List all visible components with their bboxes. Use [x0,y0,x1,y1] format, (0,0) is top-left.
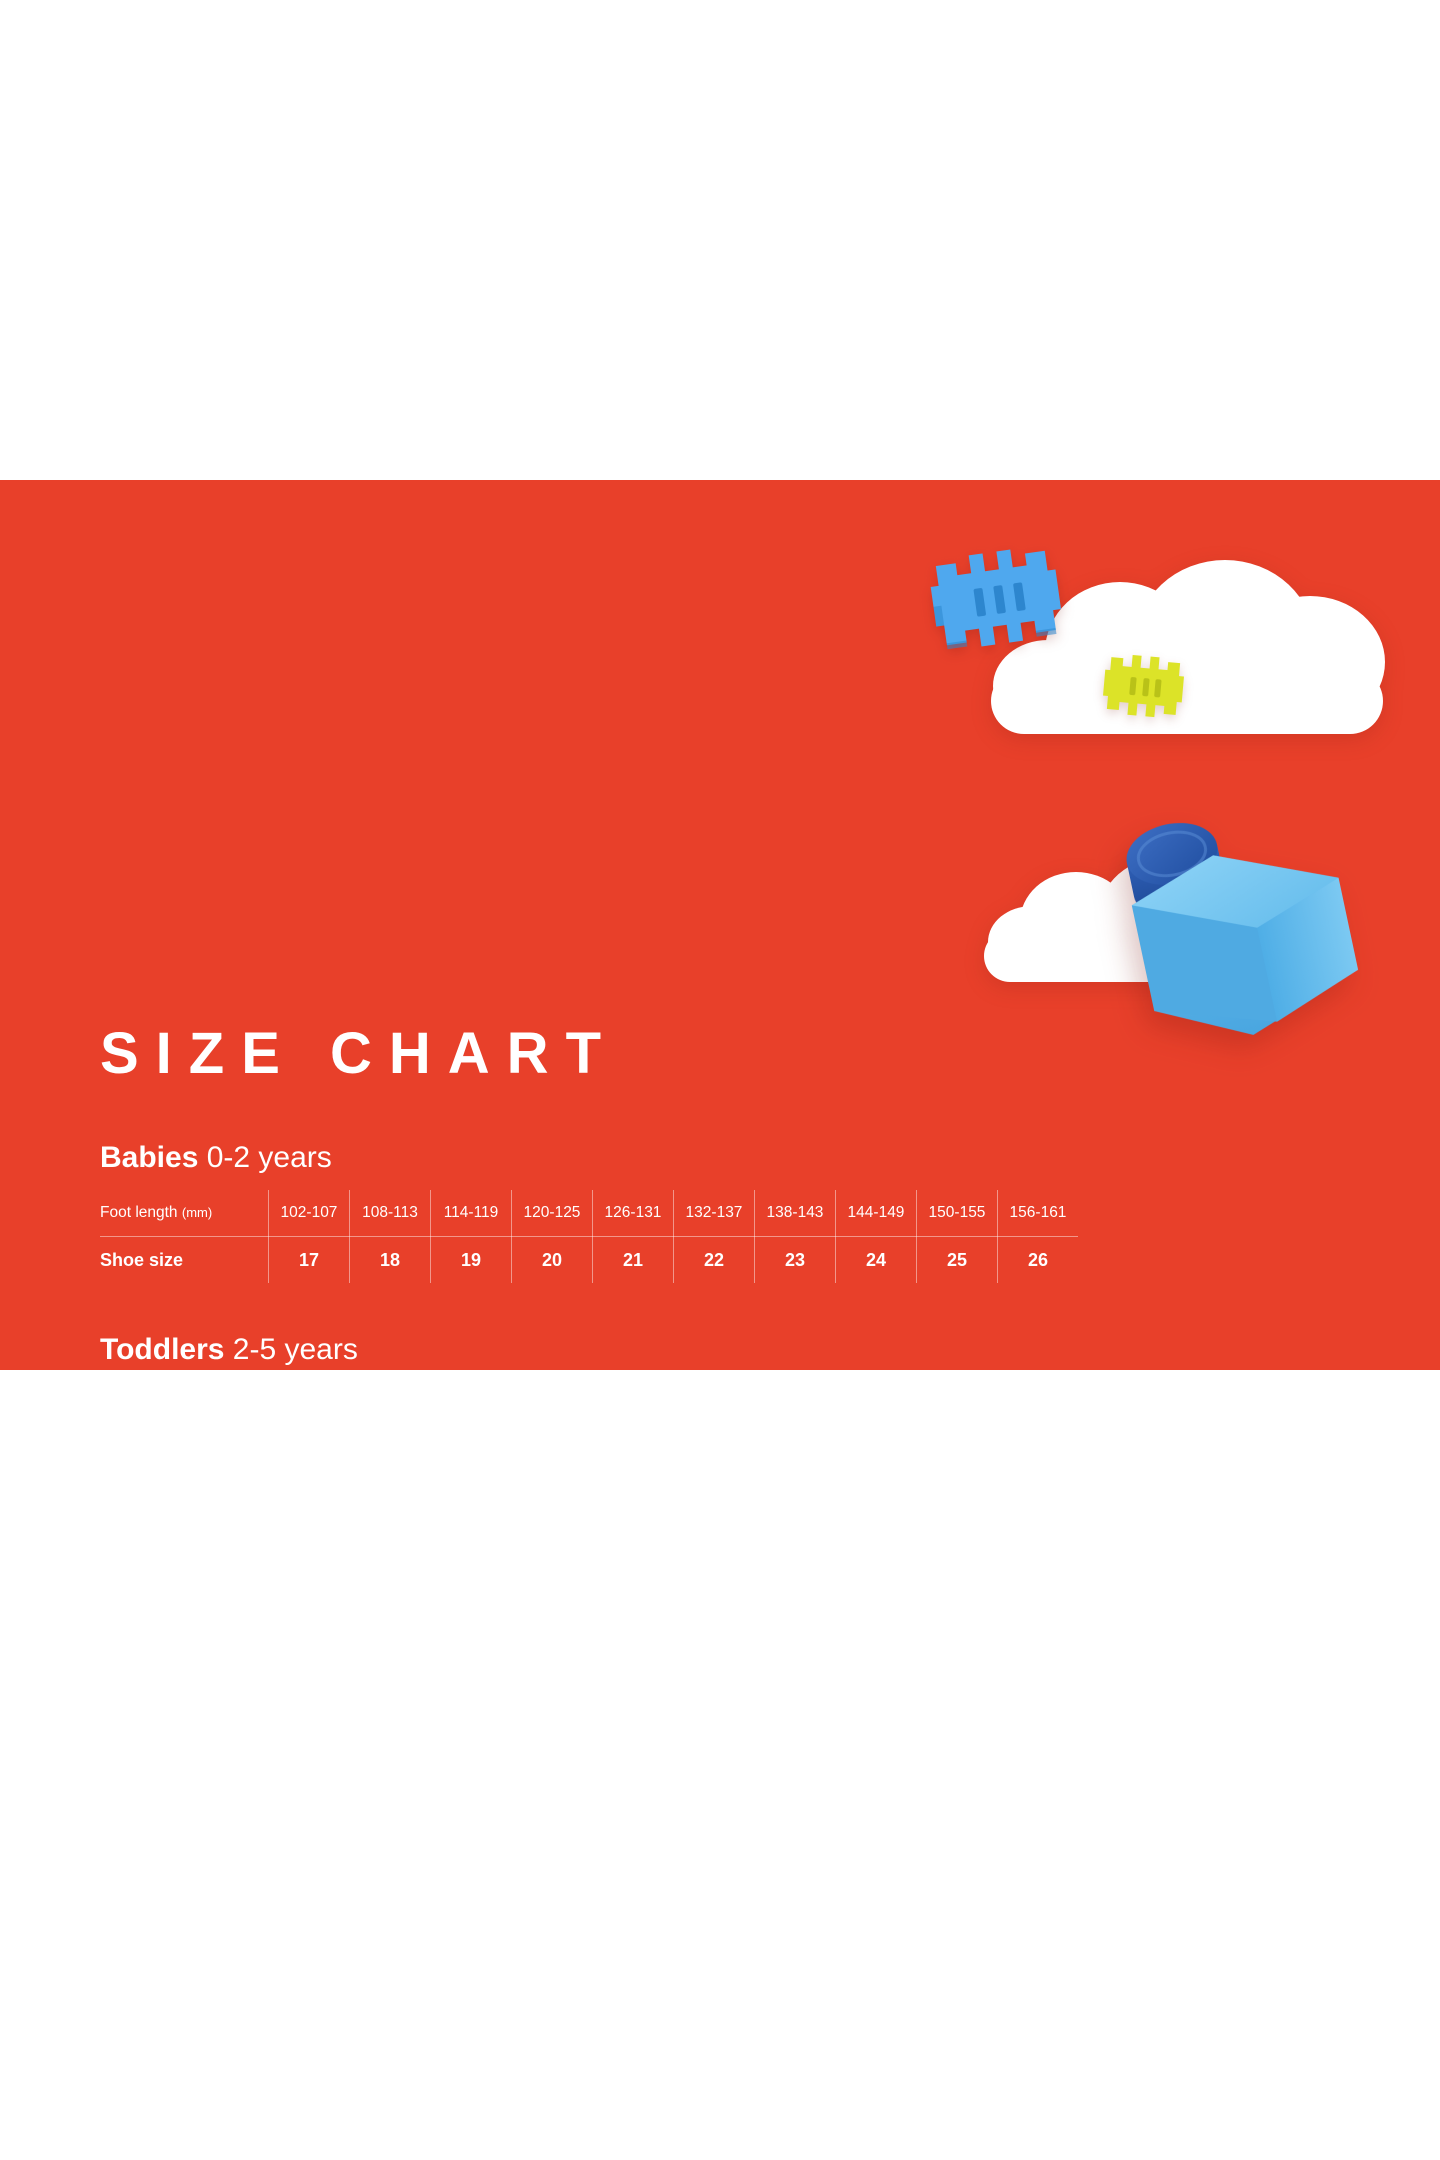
cell-shoe-size: 18 [350,1237,431,1284]
blue-block-figure-icon [923,532,1068,667]
cell-foot-length: 156-161 [998,1190,1079,1237]
section-heading-babies: Babies 0-2 years [100,1141,1360,1174]
size-table-babies: Foot length (mm) 102-107 108-113 114-119… [100,1190,1078,1283]
section-name: Babies [100,1141,198,1174]
cell-shoe-size: 17 [269,1237,350,1284]
section-heading-toddlers: Toddlers 2-5 years [100,1333,1360,1366]
section-name: Toddlers [100,1333,224,1366]
section-toddlers: Toddlers 2-5 years Foot length (mm) 162-… [100,1333,1360,1370]
size-chart-panel: SIZE CHART Babies 0-2 years Foot length … [0,480,1440,1370]
cloud-top-icon [985,556,1355,736]
cell-foot-length: 132-137 [674,1190,755,1237]
row-label-foot-length-text: Foot length [100,1204,178,1221]
page-title: SIZE CHART [100,1025,1360,1083]
cell-shoe-size: 19 [431,1237,512,1284]
cell-foot-length: 120-125 [512,1190,593,1237]
size-chart-content: SIZE CHART Babies 0-2 years Foot length … [100,1025,1360,1370]
yellow-block-figure-icon [1100,645,1186,728]
size-chart-page: SIZE CHART Babies 0-2 years Foot length … [0,0,1440,2160]
cell-foot-length: 150-155 [917,1190,998,1237]
cell-shoe-size: 21 [593,1237,674,1284]
cell-foot-length: 126-131 [593,1190,674,1237]
row-label-foot-length: Foot length (mm) [100,1190,269,1237]
cell-shoe-size: 25 [917,1237,998,1284]
cell-shoe-size: 23 [755,1237,836,1284]
section-age-range: 0-2 years [207,1141,332,1174]
row-label-shoe-size: Shoe size [100,1237,269,1284]
toy-brick-icon [1081,756,1389,1064]
cell-shoe-size: 26 [998,1237,1079,1284]
table-row-shoe-size: Shoe size 17 18 19 20 21 22 23 24 25 26 [100,1237,1078,1284]
section-babies: Babies 0-2 years Foot length (mm) 102-10… [100,1141,1360,1283]
section-age-range: 2-5 years [233,1333,358,1366]
row-label-foot-length-unit: (mm) [182,1205,212,1220]
cell-shoe-size: 24 [836,1237,917,1284]
table-row-foot-length: Foot length (mm) 102-107 108-113 114-119… [100,1190,1078,1237]
cell-foot-length: 114-119 [431,1190,512,1237]
cloud-bottom-icon [978,848,1298,988]
cell-foot-length: 144-149 [836,1190,917,1237]
cell-foot-length: 102-107 [269,1190,350,1237]
cell-shoe-size: 20 [512,1237,593,1284]
cell-foot-length: 138-143 [755,1190,836,1237]
cell-foot-length: 108-113 [350,1190,431,1237]
cell-shoe-size: 22 [674,1237,755,1284]
